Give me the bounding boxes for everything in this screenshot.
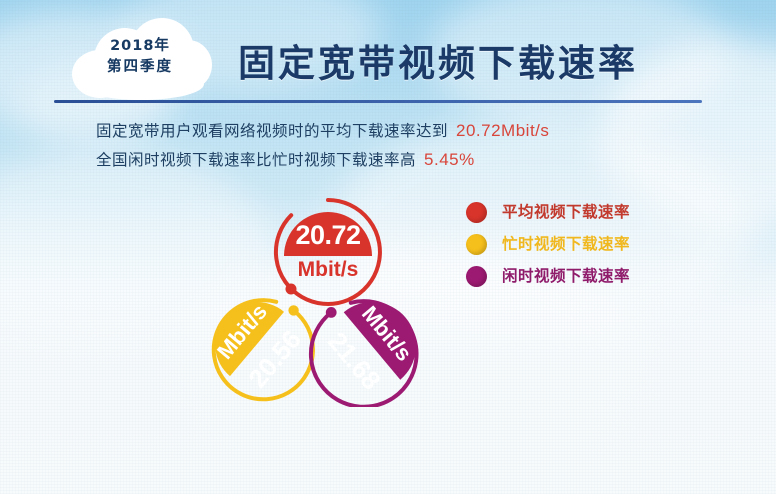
badge-year: 2018年 (64, 36, 216, 57)
legend: 平均视频下载速率 忙时视频下载速率 闲时视频下载速率 (466, 198, 696, 294)
badge-quarter: 第四季度 (64, 57, 216, 78)
gauge-average-value: 20.72 (295, 220, 360, 250)
legend-item-idle[interactable]: 闲时视频下载速率 (466, 262, 696, 294)
legend-item-average[interactable]: 平均视频下载速率 (466, 198, 696, 230)
legend-label: 平均视频下载速率 (502, 200, 630, 222)
summary-line-1-value: 20.72Mbit/s (456, 121, 549, 140)
summary-line-2-text: 全国闲时视频下载速率比忙时视频下载速率高 (96, 151, 416, 169)
infographic-canvas: 2018年 第四季度 固定宽带视频下载速率 固定宽带用户观看网络视频时的平均下载… (0, 0, 776, 494)
gauge-average[interactable]: 20.72 Mbit/s (276, 200, 380, 304)
gauge-idle-ring-endpoint (326, 307, 337, 318)
badge-text: 2018年 第四季度 (64, 36, 216, 78)
summary-line-1-text: 固定宽带用户观看网络视频时的平均下载速率达到 (96, 122, 448, 140)
gauge-busy[interactable]: Mbit/s 20.56 (198, 285, 313, 399)
summary-line-2: 全国闲时视频下载速率比忙时视频下载速率高5.45% (96, 148, 475, 170)
legend-dot-icon (466, 234, 487, 255)
title-divider (54, 100, 702, 103)
legend-label: 忙时视频下载速率 (502, 232, 630, 254)
legend-label: 闲时视频下载速率 (502, 264, 630, 286)
summary-line-2-value: 5.45% (424, 150, 475, 169)
page-title: 固定宽带视频下载速率 (238, 33, 638, 87)
summary-line-1: 固定宽带用户观看网络视频时的平均下载速率达到20.72Mbit/s (96, 119, 549, 141)
legend-dot-icon (466, 202, 487, 223)
legend-dot-icon (466, 266, 487, 287)
quarter-cloud-badge: 2018年 第四季度 (64, 14, 216, 102)
speed-gauge-group: 20.72 Mbit/s Mbit/s 20.56 (190, 192, 450, 407)
gauge-average-ring-endpoint (286, 284, 297, 295)
gauge-busy-ring-endpoint (288, 305, 298, 315)
gauge-average-unit: Mbit/s (298, 258, 359, 281)
legend-item-busy[interactable]: 忙时视频下载速率 (466, 230, 696, 262)
